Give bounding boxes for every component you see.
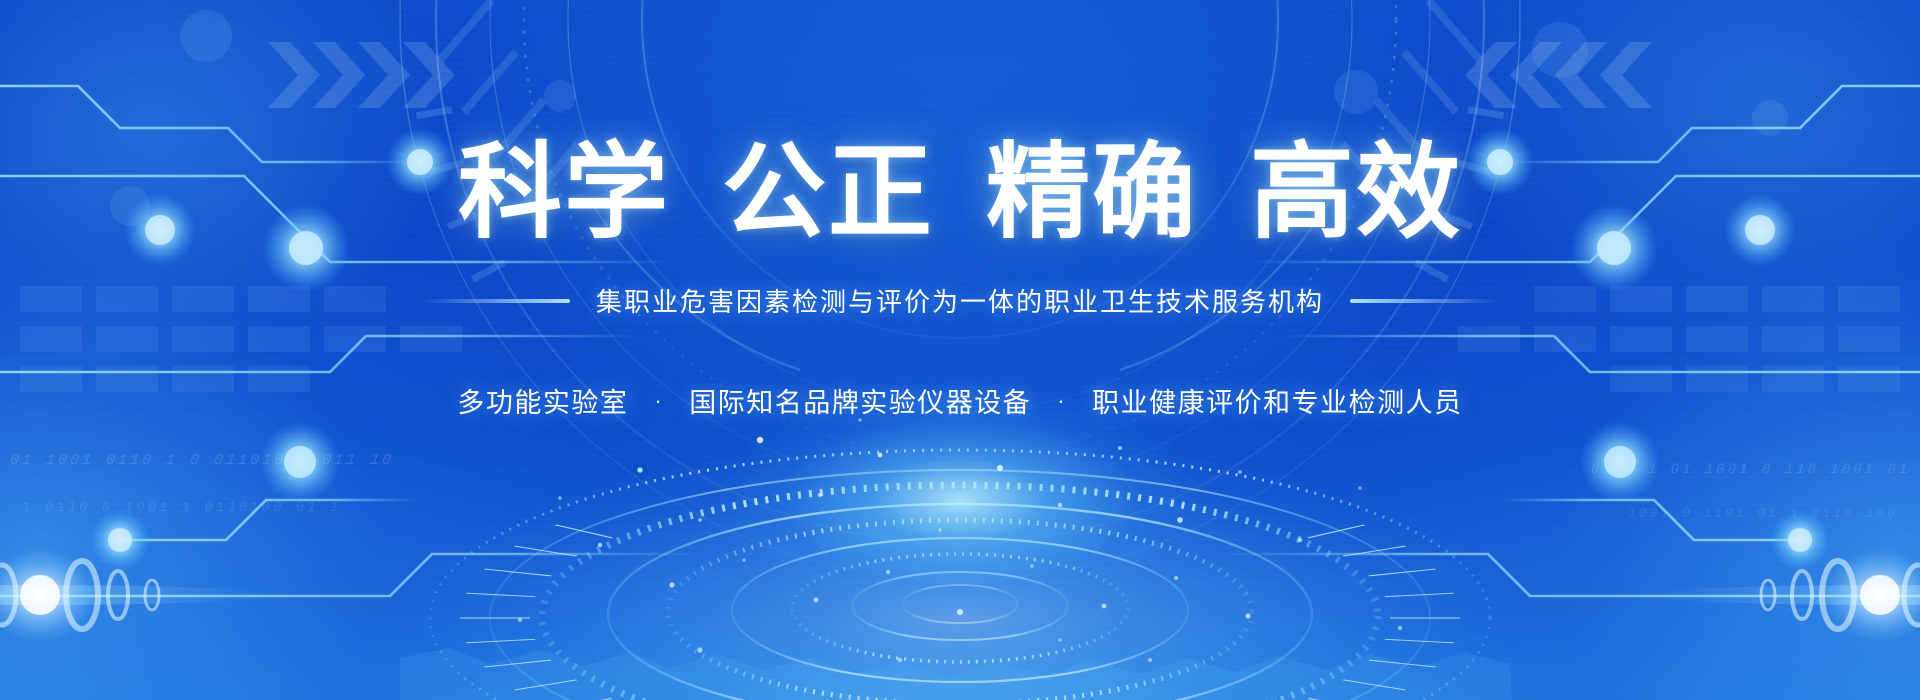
tagline-item-1: 多功能实验室 — [457, 381, 628, 420]
headline-word-1: 科学 — [458, 138, 670, 248]
headline-word-2: 公正 — [722, 138, 934, 248]
tagline-item-3: 职业健康评价和专业检测人员 — [1092, 381, 1463, 420]
subtitle-row: 集职业危害因素检测与评价为一体的职业卫生技术服务机构 — [422, 282, 1498, 319]
subtitle-rule-right — [1350, 299, 1498, 303]
tagline-separator-1: · — [654, 390, 663, 412]
tagline: 多功能实验室 · 国际知名品牌实验仪器设备 · 职业健康评价和专业检测人员 — [451, 381, 1468, 420]
banner-content: 科学 公正 精确 高效 集职业危害因素检测与评价为一体的职业卫生技术服务机构 多… — [0, 0, 1920, 700]
tagline-item-2: 国际知名品牌实验仪器设备 — [689, 381, 1031, 420]
hero-banner: 01 1001 0110 1 0 01101001 011 10 1 0110 … — [0, 0, 1920, 700]
headline: 科学 公正 精确 高效 — [432, 138, 1488, 248]
headline-word-3: 精确 — [986, 138, 1198, 248]
tagline-separator-2: · — [1057, 390, 1066, 412]
subtitle-rule-left — [422, 299, 570, 303]
subtitle: 集职业危害因素检测与评价为一体的职业卫生技术服务机构 — [596, 282, 1324, 319]
headline-word-4: 高效 — [1250, 138, 1462, 248]
